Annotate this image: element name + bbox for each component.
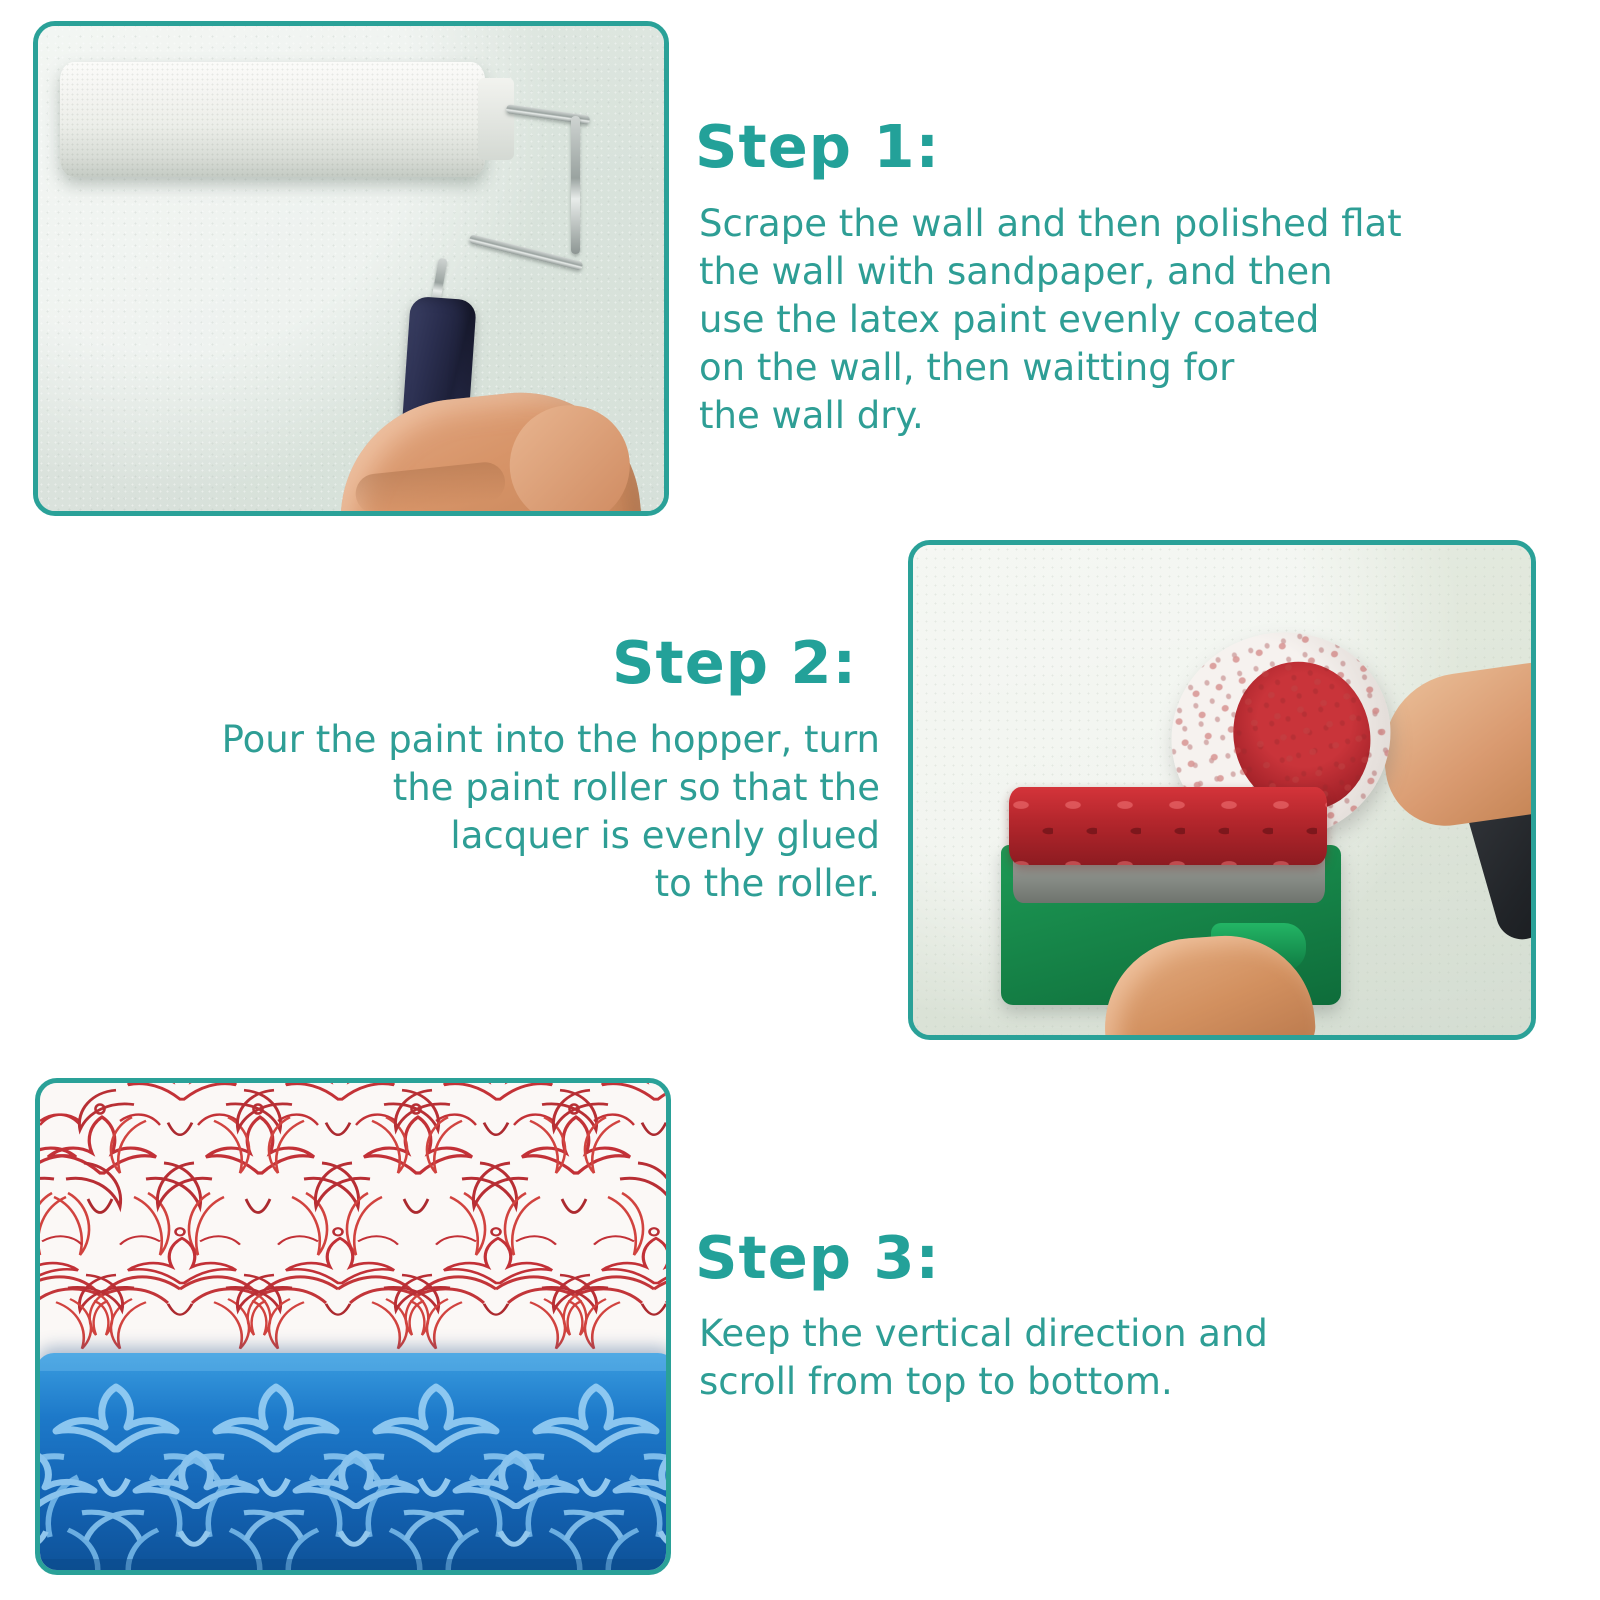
step-2-heading: Step 2: <box>612 633 857 692</box>
roller-rod-segment <box>571 116 580 254</box>
step-3-heading: Step 3: <box>695 1228 940 1287</box>
step-2-photo-inner <box>913 545 1531 1035</box>
blue-embossed-roller <box>40 1353 666 1570</box>
step-2-body-text: Pour the paint into the hopper, turn the… <box>108 716 880 908</box>
step-1-photo <box>33 21 669 516</box>
step-1-photo-inner <box>38 26 664 511</box>
step-3-photo <box>35 1078 671 1575</box>
instruction-poster: Step 1: Scrape the wall and then polishe… <box>0 0 1600 1600</box>
roller-end-cap <box>478 78 514 160</box>
step-2-photo <box>908 540 1536 1040</box>
step-1-heading: Step 1: <box>695 117 940 176</box>
step-1-body-text: Scrape the wall and then polished flat t… <box>699 200 1529 440</box>
white-roller-nap <box>60 62 485 177</box>
step-3-body-text: Keep the vertical direction and scroll f… <box>699 1310 1399 1406</box>
red-patterned-roller <box>1009 787 1327 865</box>
step-3-photo-inner <box>40 1083 666 1570</box>
roller-relief-svg <box>40 1353 666 1570</box>
